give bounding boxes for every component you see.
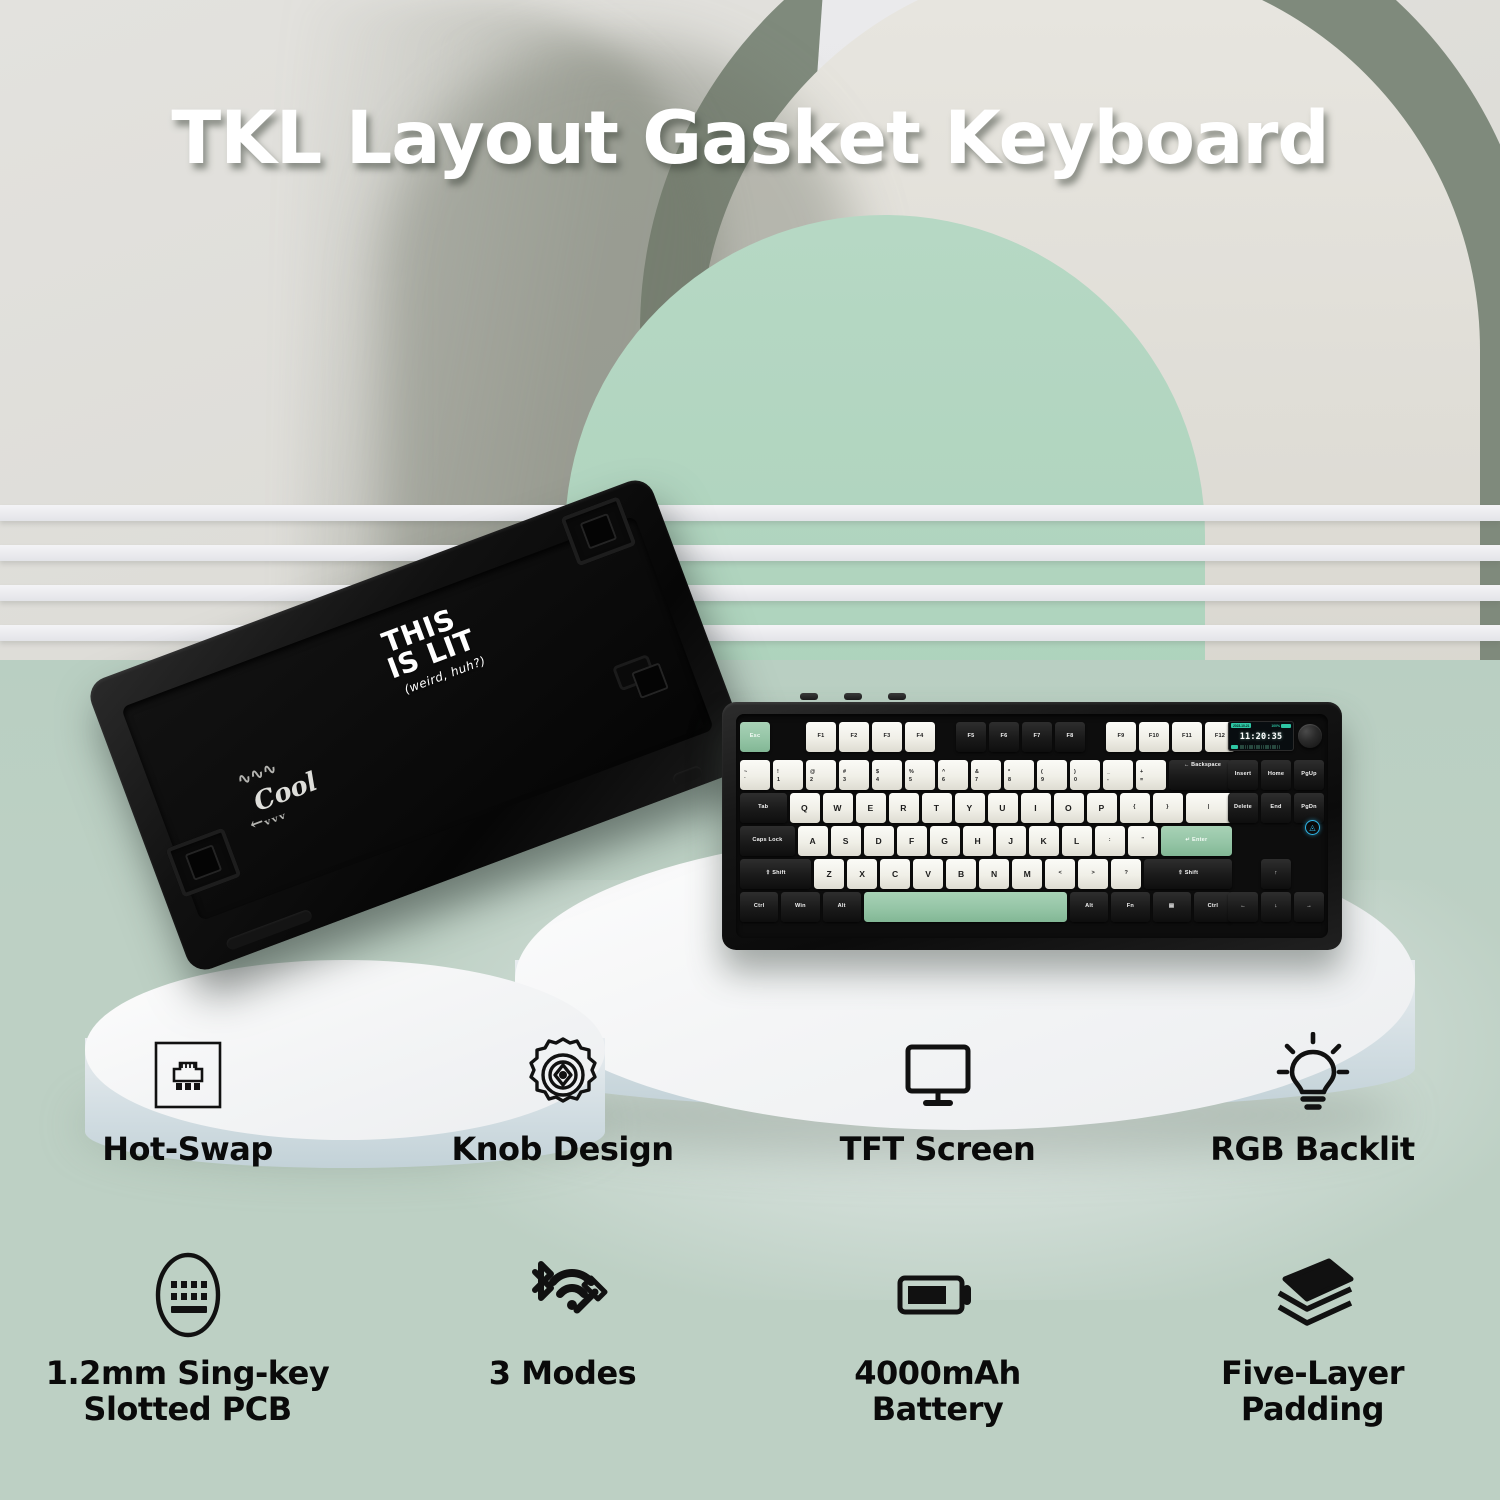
feature-battery: 4000mAh Battery bbox=[750, 1250, 1125, 1428]
slat bbox=[0, 545, 1500, 561]
key-legend-top: ! bbox=[777, 769, 779, 775]
feature-label: RGB Backlit bbox=[1210, 1132, 1414, 1168]
key-delete[interactable]: Delete bbox=[1228, 793, 1258, 823]
key-[interactable]: += bbox=[1136, 760, 1166, 790]
battery-icon bbox=[1281, 724, 1291, 728]
feature-label: Five-Layer Padding bbox=[1163, 1356, 1463, 1428]
key-[interactable]: | bbox=[1186, 793, 1233, 823]
key-legend: F11 bbox=[1182, 734, 1192, 740]
key-legend: PgUp bbox=[1301, 772, 1316, 778]
key-[interactable]: : bbox=[1095, 826, 1125, 856]
key-ctrl[interactable]: Ctrl bbox=[740, 892, 778, 922]
key-legend: F7 bbox=[1034, 734, 1041, 740]
key-t[interactable]: T bbox=[922, 793, 952, 823]
key-v[interactable]: V bbox=[913, 859, 943, 889]
pcb-keyboard-icon bbox=[149, 1250, 227, 1340]
key-legend-bottom: 3 bbox=[843, 777, 846, 783]
key-legend-bottom: 7 bbox=[975, 777, 978, 783]
tft-foot-bar bbox=[1231, 745, 1291, 749]
key-legend: T bbox=[934, 803, 939, 813]
key-legend: W bbox=[833, 803, 841, 813]
key-legend-bottom: = bbox=[1140, 777, 1143, 783]
nav-row: InsertHomePgUp bbox=[1228, 760, 1324, 790]
key-legend: } bbox=[1166, 805, 1168, 811]
key-f7[interactable]: F7 bbox=[1022, 722, 1052, 752]
gear-knob-icon bbox=[521, 1030, 605, 1120]
key-legend: F12 bbox=[1215, 734, 1225, 740]
key-[interactable]: ? bbox=[1111, 859, 1141, 889]
key-legend-top: _ bbox=[1107, 769, 1110, 775]
key-legend-top: ~ bbox=[744, 769, 747, 775]
key-legend: F bbox=[909, 836, 914, 846]
keyboard-row-number: ~`!1@2#3$4%5^6&7*8(9)0_-+=← Backspace bbox=[740, 760, 1232, 790]
key-b[interactable]: B bbox=[946, 859, 976, 889]
arrow-cluster: ↑←↓→ bbox=[1228, 859, 1324, 925]
key-caps-lock[interactable]: Caps Lock bbox=[740, 826, 795, 856]
key-legend-bottom: ` bbox=[744, 777, 746, 783]
key-enter[interactable]: ↵ Enter bbox=[1161, 826, 1232, 856]
key-legend: F8 bbox=[1067, 734, 1074, 740]
key-[interactable]: < bbox=[1045, 859, 1075, 889]
key-backspace[interactable]: ← Backspace bbox=[1169, 760, 1232, 790]
key-legend: Ctrl bbox=[1208, 904, 1218, 910]
key-legend: F3 bbox=[884, 734, 891, 740]
key-legend: C bbox=[892, 869, 898, 879]
key-u[interactable]: U bbox=[988, 793, 1018, 823]
key-legend: ↵ Enter bbox=[1185, 838, 1207, 844]
battery-icon bbox=[895, 1250, 981, 1340]
key-y[interactable]: Y bbox=[955, 793, 985, 823]
key-[interactable]: → bbox=[1294, 892, 1324, 922]
key-c[interactable]: C bbox=[880, 859, 910, 889]
key-[interactable]: { bbox=[1120, 793, 1150, 823]
key-a[interactable]: A bbox=[798, 826, 828, 856]
brand-logo-icon: ◬ bbox=[1305, 820, 1320, 835]
key-f2[interactable]: F2 bbox=[839, 722, 869, 752]
key-legend: L bbox=[1074, 836, 1079, 846]
key-legend: X bbox=[859, 869, 865, 879]
layers-stack-icon bbox=[1267, 1250, 1359, 1340]
key-7[interactable]: &7 bbox=[971, 760, 1001, 790]
key-legend: Insert bbox=[1235, 772, 1251, 778]
key-legend-top: @ bbox=[810, 769, 815, 775]
key-5[interactable]: %5 bbox=[905, 760, 935, 790]
slat bbox=[0, 505, 1500, 521]
key-legend: F1 bbox=[818, 734, 825, 740]
key-legend: ▤ bbox=[1169, 904, 1175, 910]
feature-five-layer-padding: Five-Layer Padding bbox=[1125, 1250, 1500, 1428]
key-legend: Y bbox=[967, 803, 973, 813]
key-legend: Fn bbox=[1127, 904, 1134, 910]
keyboard-row-qwerty: TabQWERTYUIOP{}| bbox=[740, 793, 1232, 823]
key-legend: F2 bbox=[851, 734, 858, 740]
feature-label: 4000mAh Battery bbox=[788, 1356, 1088, 1428]
key-d[interactable]: D bbox=[864, 826, 894, 856]
key-legend: → bbox=[1306, 904, 1312, 910]
key-legend: M bbox=[1024, 869, 1031, 879]
key-fn[interactable]: Fn bbox=[1111, 892, 1149, 922]
key-legend: ? bbox=[1124, 871, 1128, 877]
key-legend: Q bbox=[801, 803, 808, 813]
key-legend: N bbox=[991, 869, 997, 879]
key-legend: ↑ bbox=[1275, 871, 1278, 877]
key-gap bbox=[938, 722, 953, 752]
key-[interactable]: ▤ bbox=[1153, 892, 1191, 922]
key-legend: Delete bbox=[1234, 805, 1252, 811]
key-legend: ⇧ Shift bbox=[766, 871, 786, 877]
key-pgdn[interactable]: PgDn bbox=[1294, 793, 1324, 823]
slat bbox=[0, 585, 1500, 601]
key-f6[interactable]: F6 bbox=[989, 722, 1019, 752]
nav-row: DeleteEndPgDn bbox=[1228, 793, 1324, 823]
key-shift[interactable]: ⇧ Shift bbox=[740, 859, 811, 889]
key-[interactable]: _- bbox=[1103, 760, 1133, 790]
key-legend: Ctrl bbox=[754, 904, 764, 910]
key-z[interactable]: Z bbox=[814, 859, 844, 889]
key-win[interactable]: Win bbox=[781, 892, 819, 922]
key-legend: Alt bbox=[838, 904, 846, 910]
feature-label: Knob Design bbox=[451, 1132, 673, 1168]
key-legend: { bbox=[1133, 805, 1135, 811]
key-alt[interactable]: Alt bbox=[823, 892, 861, 922]
key-legend: End bbox=[1270, 805, 1281, 811]
key-x[interactable]: X bbox=[847, 859, 877, 889]
key-legend: " bbox=[1141, 838, 1144, 844]
key-gap bbox=[1088, 722, 1103, 752]
key-legend-top: + bbox=[1140, 769, 1143, 775]
feature-pcb: 1.2mm Sing-key Slotted PCB bbox=[0, 1250, 375, 1428]
tft-battery-percent: 100% bbox=[1271, 724, 1280, 728]
key-legend-bottom: 9 bbox=[1041, 777, 1044, 783]
hot-swap-socket-icon bbox=[150, 1030, 226, 1120]
features-row-bottom: 1.2mm Sing-key Slotted PCB 3 Modes 4000m… bbox=[0, 1250, 1500, 1428]
key-legend: < bbox=[1059, 871, 1062, 877]
tft-knob-module: 2023-10-21 100% 11:20:35 bbox=[1228, 720, 1324, 752]
key-s[interactable]: S bbox=[831, 826, 861, 856]
key-[interactable]: ~` bbox=[740, 760, 770, 790]
key-legend: P bbox=[1099, 803, 1105, 813]
key-legend-bottom: ← Backspace bbox=[1184, 762, 1221, 768]
key-o[interactable]: O bbox=[1054, 793, 1084, 823]
key-r[interactable]: R bbox=[889, 793, 919, 823]
key-legend: F9 bbox=[1118, 734, 1125, 740]
key-insert[interactable]: Insert bbox=[1228, 760, 1258, 790]
key-legend-top: $ bbox=[876, 769, 879, 775]
key-legend: F6 bbox=[1001, 734, 1008, 740]
key-legend: S bbox=[843, 836, 849, 846]
key-legend-bottom: 4 bbox=[876, 777, 879, 783]
tft-status-bar: 2023-10-21 100% bbox=[1231, 723, 1291, 728]
key-esc[interactable]: Esc bbox=[740, 722, 770, 752]
key-k[interactable]: K bbox=[1029, 826, 1059, 856]
keyboard-row-home: Caps LockASDFGHJKL:"↵ Enter bbox=[740, 826, 1232, 856]
key-legend: Win bbox=[795, 904, 806, 910]
key-l[interactable]: L bbox=[1062, 826, 1092, 856]
key-legend: Home bbox=[1268, 772, 1284, 778]
keyboard-row-shift: ⇧ ShiftZXCVBNM<>?⇧ Shift bbox=[740, 859, 1232, 889]
key-legend-top: % bbox=[909, 769, 914, 775]
key-legend: ↓ bbox=[1275, 904, 1278, 910]
feature-label: 1.2mm Sing-key Slotted PCB bbox=[38, 1356, 338, 1428]
feature-rgb-backlit: RGB Backlit bbox=[1125, 1030, 1500, 1168]
key-legend: E bbox=[868, 803, 874, 813]
key-[interactable]: > bbox=[1078, 859, 1108, 889]
arrow-row-up: ↑ bbox=[1261, 859, 1324, 889]
key-legend: Esc bbox=[750, 734, 761, 740]
keyboard-row-function: EscF1F2F3F4F5F6F7F8F9F10F11F12 bbox=[740, 722, 1235, 752]
key-legend-top: * bbox=[1008, 769, 1010, 775]
key-8[interactable]: *8 bbox=[1004, 760, 1034, 790]
tft-tag-icon bbox=[1231, 745, 1238, 749]
key-legend: Tab bbox=[758, 805, 768, 811]
feature-knob-design: Knob Design bbox=[375, 1030, 750, 1168]
key-legend-top: ) bbox=[1074, 769, 1076, 775]
key-legend: D bbox=[876, 836, 882, 846]
key-legend: G bbox=[941, 836, 948, 846]
tft-clock: 11:20:35 bbox=[1231, 732, 1291, 742]
key-legend-top: ( bbox=[1041, 769, 1043, 775]
key-legend: F10 bbox=[1149, 734, 1159, 740]
key-m[interactable]: M bbox=[1012, 859, 1042, 889]
key-w[interactable]: W bbox=[823, 793, 853, 823]
key-2[interactable]: @2 bbox=[806, 760, 836, 790]
key-legend-bottom: - bbox=[1107, 777, 1109, 783]
key-4[interactable]: $4 bbox=[872, 760, 902, 790]
key-ctrl[interactable]: Ctrl bbox=[1194, 892, 1232, 922]
key-legend: : bbox=[1109, 838, 1111, 844]
key-legend: R bbox=[900, 803, 906, 813]
keyboard-row-modifier: CtrlWinAltAltFn▤Ctrl bbox=[740, 892, 1232, 922]
key-[interactable]: ← bbox=[1228, 892, 1258, 922]
key-f11[interactable]: F11 bbox=[1172, 722, 1202, 752]
key-legend-bottom: 1 bbox=[777, 777, 780, 783]
key-gap bbox=[773, 722, 803, 752]
key-tab[interactable]: Tab bbox=[740, 793, 787, 823]
rotary-knob[interactable] bbox=[1298, 724, 1322, 748]
key-1[interactable]: !1 bbox=[773, 760, 803, 790]
key-[interactable]: ↑ bbox=[1261, 859, 1291, 889]
features-row-top: Hot-Swap Knob Design TFT Screen bbox=[0, 1030, 1500, 1168]
key-legend-top: & bbox=[975, 769, 979, 775]
key-end[interactable]: End bbox=[1261, 793, 1291, 823]
key-f10[interactable]: F10 bbox=[1139, 722, 1169, 752]
key-0[interactable]: )0 bbox=[1070, 760, 1100, 790]
key-legend: I bbox=[1034, 803, 1037, 813]
tft-date: 2023-10-21 bbox=[1231, 723, 1251, 728]
key-p[interactable]: P bbox=[1087, 793, 1117, 823]
key-legend: K bbox=[1041, 836, 1047, 846]
key-f[interactable]: F bbox=[897, 826, 927, 856]
key-legend-bottom: 5 bbox=[909, 777, 912, 783]
key-legend-top: ^ bbox=[942, 769, 945, 775]
tft-battery-group: 100% bbox=[1271, 724, 1291, 728]
key-[interactable]: ↓ bbox=[1261, 892, 1291, 922]
key-legend: B bbox=[958, 869, 964, 879]
tft-screen[interactable]: 2023-10-21 100% 11:20:35 bbox=[1228, 721, 1294, 751]
feature-label: TFT Screen bbox=[840, 1132, 1036, 1168]
key-f4[interactable]: F4 bbox=[905, 722, 935, 752]
key-i[interactable]: I bbox=[1021, 793, 1051, 823]
key-legend: Z bbox=[827, 869, 832, 879]
page-title: TKL Layout Gasket Keyboard bbox=[0, 96, 1500, 181]
key-legend: A bbox=[810, 836, 816, 846]
key-q[interactable]: Q bbox=[790, 793, 820, 823]
key-legend: ⇧ Shift bbox=[1178, 871, 1198, 877]
key-[interactable]: " bbox=[1128, 826, 1158, 856]
tft-eq-bars bbox=[1240, 745, 1291, 749]
key-f1[interactable]: F1 bbox=[806, 722, 836, 752]
main-keyboard: EscF1F2F3F4F5F6F7F8F9F10F11F12 ~`!1@2#3$… bbox=[722, 702, 1342, 950]
lightbulb-icon bbox=[1273, 1030, 1353, 1120]
key-legend: H bbox=[975, 836, 981, 846]
key-legend: U bbox=[999, 803, 1005, 813]
feature-3-modes: 3 Modes bbox=[375, 1250, 750, 1428]
key-f8[interactable]: F8 bbox=[1055, 722, 1085, 752]
key-legend-bottom: 2 bbox=[810, 777, 813, 783]
key-legend: F4 bbox=[917, 734, 924, 740]
feature-label: Hot-Swap bbox=[102, 1132, 272, 1168]
key-legend: J bbox=[1008, 836, 1013, 846]
arrow-row-bottom: ←↓→ bbox=[1228, 892, 1324, 922]
key-legend-top: # bbox=[843, 769, 846, 775]
key-blank[interactable] bbox=[864, 892, 1067, 922]
key-shift[interactable]: ⇧ Shift bbox=[1144, 859, 1232, 889]
key-n[interactable]: N bbox=[979, 859, 1009, 889]
key-legend-bottom: 0 bbox=[1074, 777, 1077, 783]
key-g[interactable]: G bbox=[930, 826, 960, 856]
key-legend: O bbox=[1065, 803, 1072, 813]
key-pgup[interactable]: PgUp bbox=[1294, 760, 1324, 790]
feature-label: 3 Modes bbox=[489, 1356, 636, 1392]
feature-hot-swap: Hot-Swap bbox=[0, 1030, 375, 1168]
bluetooth-wifi-usb-icon bbox=[515, 1250, 611, 1340]
key-home[interactable]: Home bbox=[1261, 760, 1291, 790]
key-6[interactable]: ^6 bbox=[938, 760, 968, 790]
mode-toggles[interactable] bbox=[800, 693, 930, 703]
key-f9[interactable]: F9 bbox=[1106, 722, 1136, 752]
key-f3[interactable]: F3 bbox=[872, 722, 902, 752]
key-legend-bottom: 6 bbox=[942, 777, 945, 783]
key-j[interactable]: J bbox=[996, 826, 1026, 856]
key-alt[interactable]: Alt bbox=[1070, 892, 1108, 922]
key-legend: Alt bbox=[1085, 904, 1093, 910]
key-legend: | bbox=[1208, 805, 1210, 811]
key-e[interactable]: E bbox=[856, 793, 886, 823]
key-legend: Caps Lock bbox=[752, 838, 782, 844]
navigation-cluster: InsertHomePgUpDeleteEndPgDn bbox=[1228, 760, 1324, 826]
key-[interactable]: } bbox=[1153, 793, 1183, 823]
feature-tft-screen: TFT Screen bbox=[750, 1030, 1125, 1168]
key-legend: V bbox=[925, 869, 931, 879]
key-legend: F5 bbox=[968, 734, 975, 740]
key-legend: ← bbox=[1240, 904, 1246, 910]
key-legend-bottom: 8 bbox=[1008, 777, 1011, 783]
key-3[interactable]: #3 bbox=[839, 760, 869, 790]
monitor-icon bbox=[900, 1030, 976, 1120]
key-h[interactable]: H bbox=[963, 826, 993, 856]
key-f5[interactable]: F5 bbox=[956, 722, 986, 752]
key-9[interactable]: (9 bbox=[1037, 760, 1067, 790]
key-legend: PgDn bbox=[1301, 805, 1316, 811]
key-legend: > bbox=[1092, 871, 1095, 877]
